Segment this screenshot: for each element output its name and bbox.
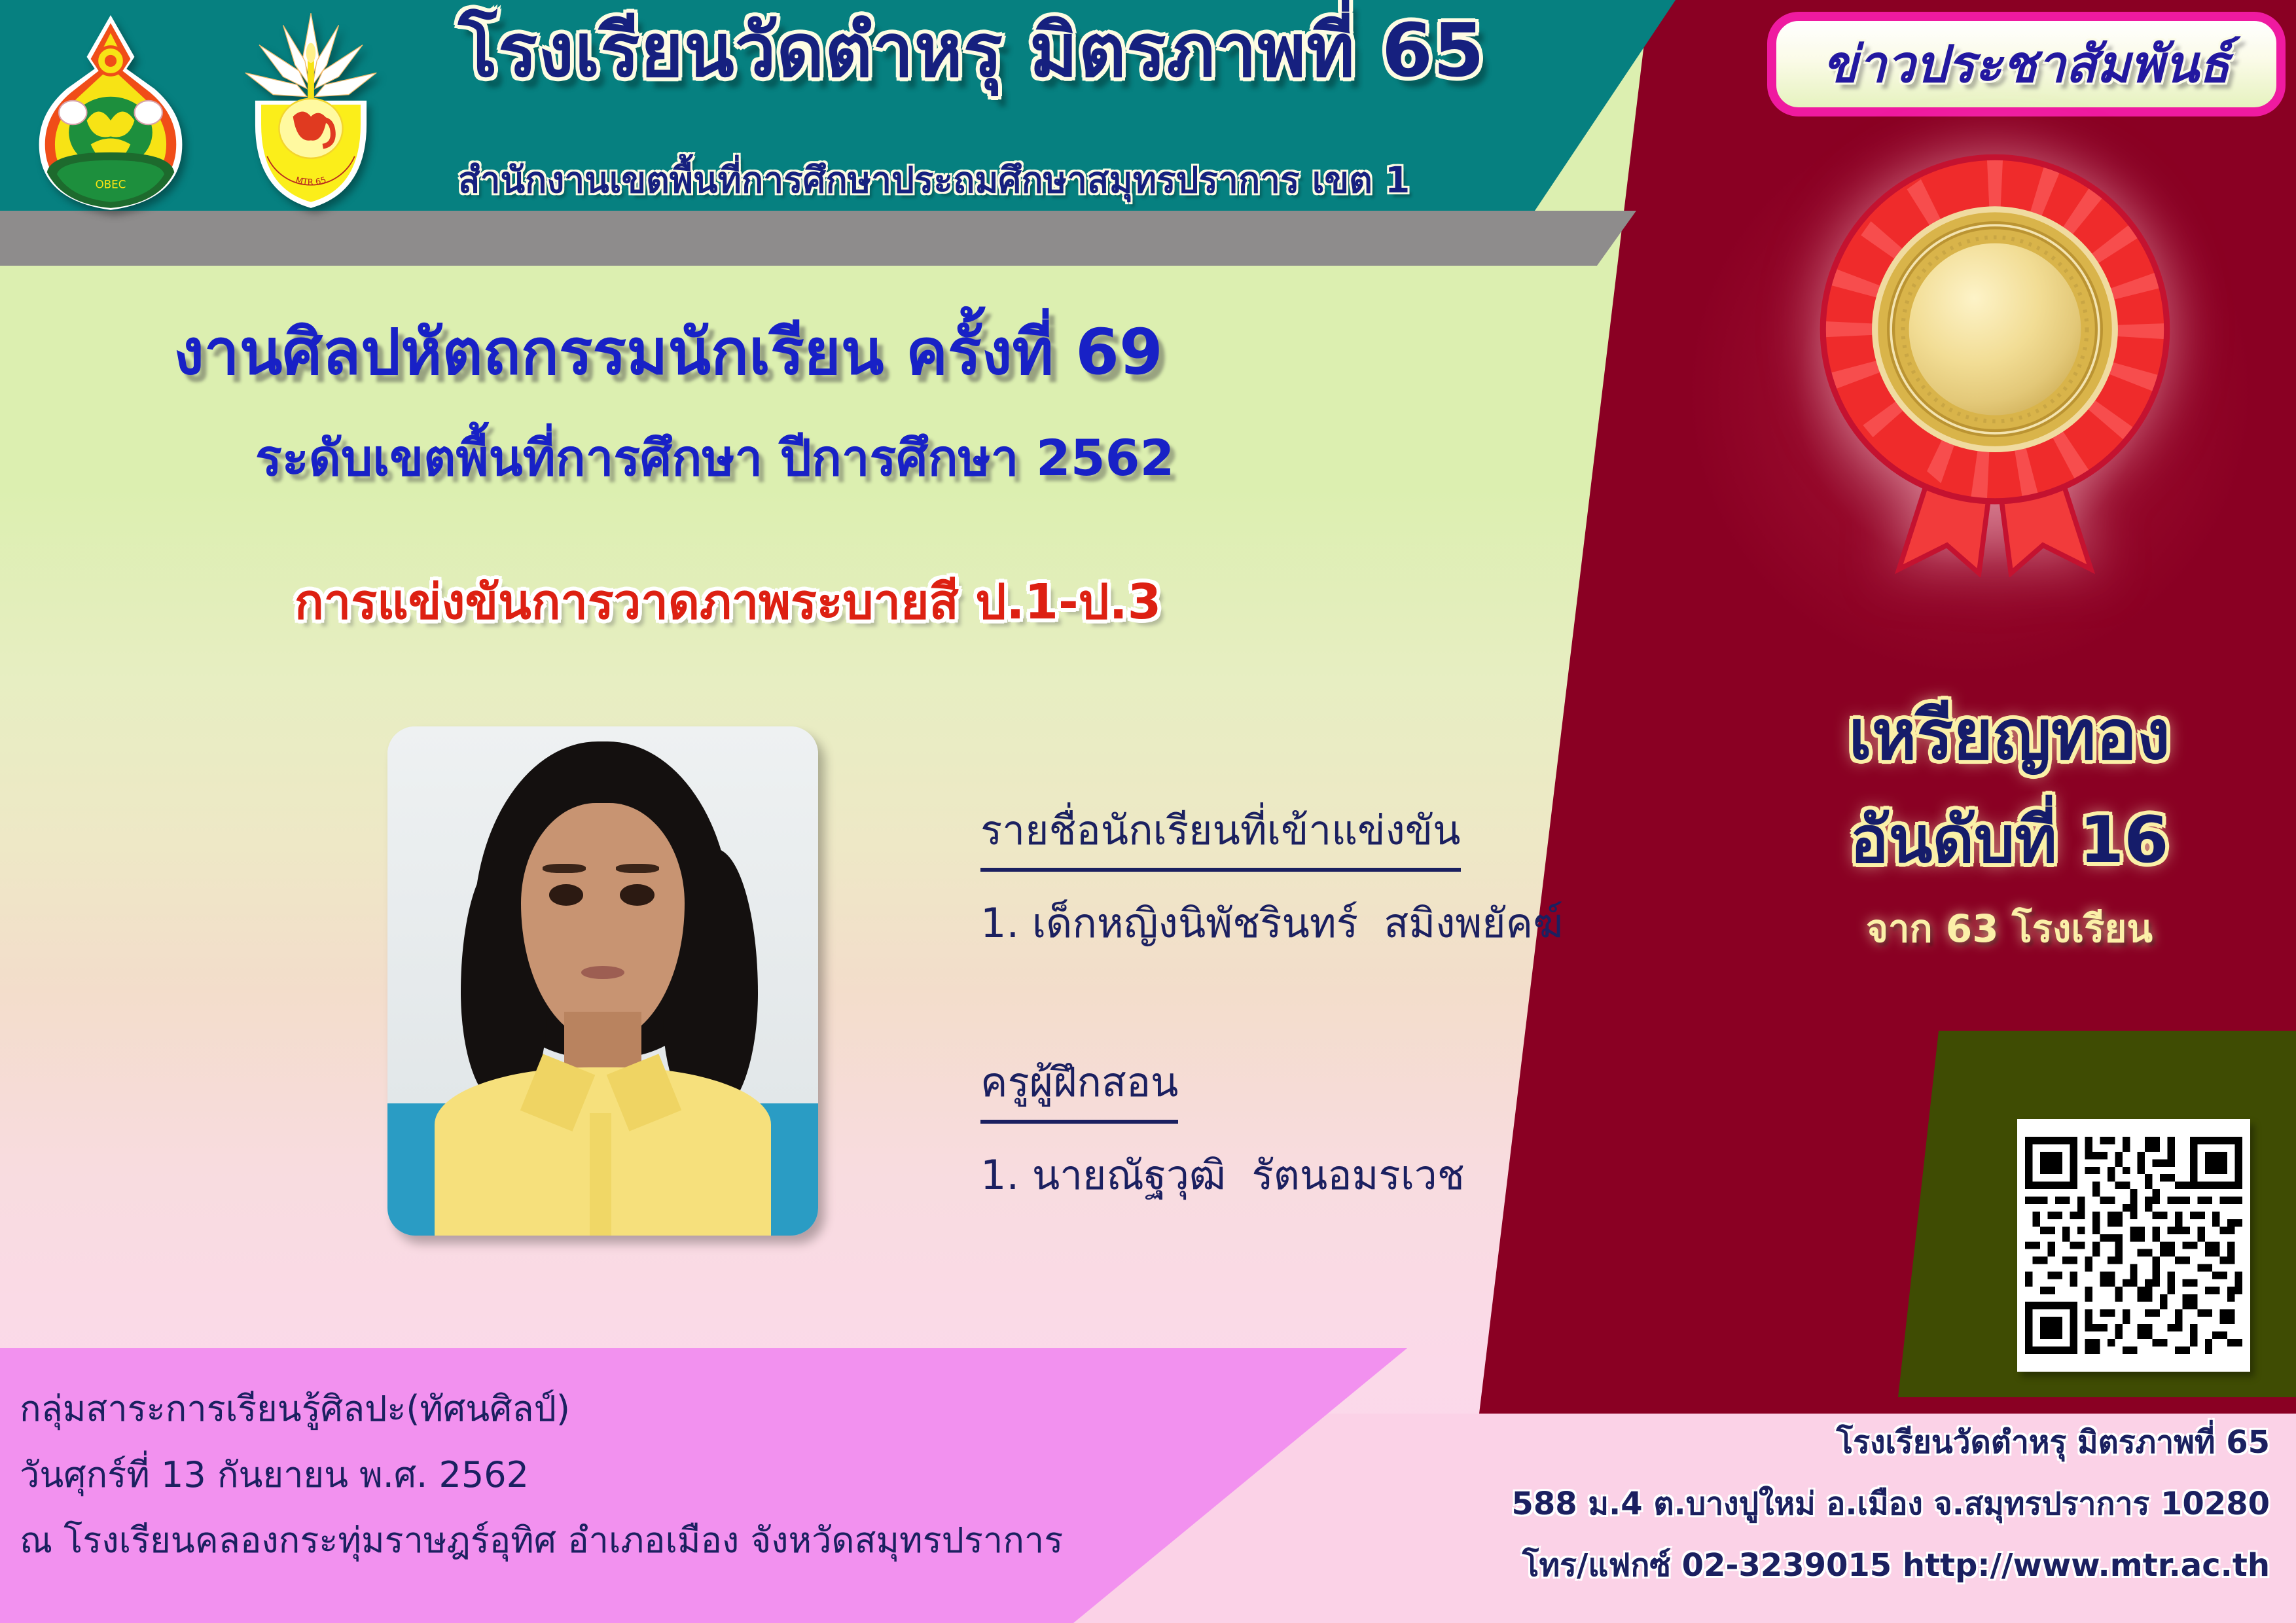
- svg-text:OBEC: OBEC: [96, 177, 126, 190]
- event-title-line1: งานศิลปหัตถกรรมนักเรียน ครั้งที่ 69: [173, 302, 1163, 402]
- award-rank-label: อันดับที่ 16: [1741, 789, 2278, 891]
- header-school-name: โรงเรียนวัดตำหรุ มิตรภาพที่ 65: [458, 13, 1485, 90]
- footer-left: กลุ่มสาระการเรียนรู้ศิลปะ(ทัศนศิลป์) วัน…: [20, 1384, 1063, 1582]
- student-list-heading: รายชื่อนักเรียนที่เข้าแข่งขัน: [980, 798, 1461, 872]
- qr-code-icon[interactable]: [2017, 1119, 2250, 1372]
- obec-emblem: OBEC: [9, 9, 212, 216]
- award-medal-label: เหรียญทอง: [1741, 681, 2278, 789]
- teacher-list-heading: ครูผู้ฝึกสอน: [980, 1050, 1178, 1124]
- student-list-item: 1. เด็กหญิงนิพัชรินทร์ สมิงพยัคฆ์: [980, 891, 1563, 955]
- header-gray-band: [0, 211, 1636, 266]
- footer-date: วันศุกร์ที่ 13 กันยายน พ.ศ. 2562: [20, 1450, 1063, 1501]
- student-photo: [387, 726, 818, 1236]
- poster-canvas: OBEC MTR 65: [0, 0, 2296, 1623]
- award-rosette-icon: [1795, 145, 2195, 577]
- footer-contact[interactable]: โทร/แฟกซ์ 02-3239015 http://www.mtr.ac.t…: [1511, 1543, 2270, 1588]
- footer-venue: ณ โรงเรียนคลองกระทุ่มราษฎร์อุทิศ อำเภอเม…: [20, 1516, 1063, 1566]
- footer-address: 588 ม.4 ต.บางปูใหม่ อ.เมือง จ.สมุทรปรากา…: [1511, 1482, 2270, 1526]
- pr-banner-label: ข่าวประชาสัมพันธ์: [1823, 24, 2230, 105]
- event-title-line2: ระดับเขตพื้นที่การศึกษา ปีการศึกษา 2562: [255, 419, 1174, 497]
- footer-right: โรงเรียนวัดตำหรุ มิตรภาพที่ 65 588 ม.4 ต…: [1511, 1420, 2270, 1605]
- student-list: รายชื่อนักเรียนที่เข้าแข่งขัน 1. เด็กหญิ…: [980, 798, 1563, 955]
- header-office-name: สำนักงานเขตพื้นที่การศึกษาประถมศึกษาสมุท…: [458, 152, 1410, 209]
- teacher-list-item: 1. นายณัฐวุฒิ รัตนอมรเวช: [980, 1143, 1465, 1207]
- footer-subject-group: กลุ่มสาระการเรียนรู้ศิลปะ(ทัศนศิลป์): [20, 1384, 1063, 1435]
- pr-banner: ข่าวประชาสัมพันธ์: [1767, 12, 2286, 116]
- award-total-label: จาก 63 โรงเรียน: [1741, 898, 2278, 959]
- footer-school-name: โรงเรียนวัดตำหรุ มิตรภาพที่ 65: [1511, 1420, 2270, 1465]
- teacher-list: ครูผู้ฝึกสอน 1. นายณัฐวุฒิ รัตนอมรเวช: [980, 1050, 1465, 1207]
- competition-title: การแข่งขันการวาดภาพระบายสี ป.1-ป.3: [295, 563, 1161, 640]
- school-emblem: MTR 65: [209, 9, 412, 216]
